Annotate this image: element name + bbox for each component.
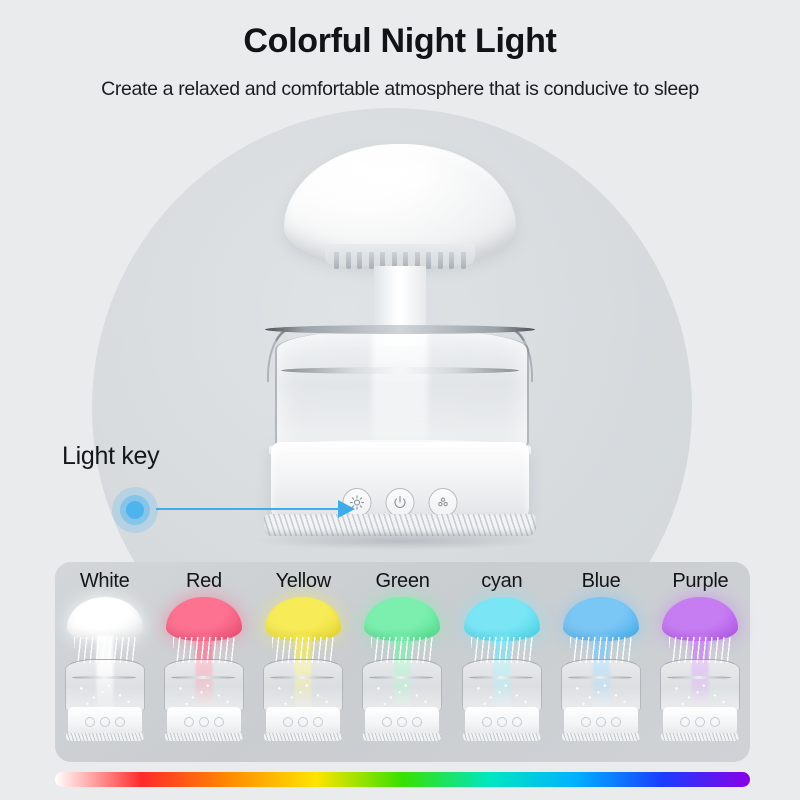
swatch-product-thumbnail <box>456 595 548 747</box>
nozzle <box>334 252 339 269</box>
swatch-bubbles <box>371 680 433 708</box>
swatch-water-line <box>667 676 731 679</box>
swatch-tank <box>660 659 740 712</box>
product-marketing-image: Colorful Night Light Create a relaxed an… <box>0 0 800 800</box>
swatch-tank <box>263 659 343 712</box>
swatch-control-button <box>611 717 621 727</box>
nozzle <box>357 252 362 269</box>
swatch-bubbles <box>570 680 632 708</box>
nozzle <box>461 252 466 269</box>
color-spectrum-bar <box>55 772 750 787</box>
swatch-vent <box>264 733 342 741</box>
swatch-control-button <box>695 717 705 727</box>
power-button[interactable] <box>386 488 415 517</box>
swatch-product-thumbnail <box>158 595 250 747</box>
swatch-bubbles <box>173 680 235 708</box>
swatch-control-buttons <box>482 717 522 727</box>
swatch-control-button <box>214 717 224 727</box>
swatch-label: Blue <box>582 570 621 593</box>
swatch-bubbles <box>471 680 533 708</box>
swatch-control-buttons <box>680 717 720 727</box>
nozzle <box>369 252 374 269</box>
tank-flare-right <box>505 327 533 382</box>
swatch-vent <box>66 733 144 741</box>
swatch-control-buttons <box>382 717 422 727</box>
swatch-control-buttons <box>184 717 224 727</box>
swatch-control-buttons <box>85 717 125 727</box>
swatch-label: cyan <box>481 570 522 593</box>
swatch-vent <box>661 733 739 741</box>
swatch-tank <box>362 659 442 712</box>
swatch-control-button <box>680 717 690 727</box>
swatch-control-button <box>298 717 308 727</box>
swatch-product-thumbnail <box>257 595 349 747</box>
swatch-control-buttons <box>283 717 323 727</box>
tank-glass <box>275 330 529 452</box>
swatch-tank <box>164 659 244 712</box>
water-tank <box>265 325 535 455</box>
swatch-vent <box>363 733 441 741</box>
swatch-control-button <box>313 717 323 727</box>
color-swatch-panel: WhiteRedYellowGreencyanBluePurple <box>55 562 750 762</box>
tank-rim <box>265 325 535 334</box>
color-swatch[interactable]: White <box>55 562 154 762</box>
color-swatch[interactable]: Purple <box>651 562 750 762</box>
swatch-product-thumbnail <box>59 595 151 747</box>
water-line <box>281 367 519 374</box>
swatch-product-thumbnail <box>654 595 746 747</box>
swatch-bubbles <box>669 680 731 708</box>
marker-core <box>126 501 144 519</box>
swatch-product-thumbnail <box>356 595 448 747</box>
swatch-water-line <box>469 676 533 679</box>
light-key-label: Light key <box>62 442 159 471</box>
swatch-label: White <box>80 570 130 593</box>
color-swatch[interactable]: cyan <box>452 562 551 762</box>
swatch-water-line <box>369 676 433 679</box>
callout-line <box>156 508 341 510</box>
mist-icon <box>436 495 451 510</box>
swatch-row: WhiteRedYellowGreencyanBluePurple <box>55 562 750 762</box>
cap-highlight <box>344 159 446 200</box>
nozzle <box>449 252 454 269</box>
swatch-water-line <box>270 676 334 679</box>
swatch-water-line <box>171 676 235 679</box>
swatch-water-line <box>72 676 136 679</box>
swatch-control-button <box>482 717 492 727</box>
swatch-control-button <box>710 717 720 727</box>
swatch-label: Green <box>375 570 429 593</box>
swatch-vent <box>165 733 243 741</box>
color-swatch[interactable]: Green <box>353 562 452 762</box>
color-swatch[interactable]: Yellow <box>254 562 353 762</box>
marker-ring <box>120 495 150 525</box>
power-icon <box>393 495 408 510</box>
swatch-control-button <box>115 717 125 727</box>
swatch-label: Yellow <box>276 570 331 593</box>
swatch-control-buttons <box>581 717 621 727</box>
swatch-control-button <box>100 717 110 727</box>
swatch-tank <box>462 659 542 712</box>
color-swatch[interactable]: Red <box>154 562 253 762</box>
product-illustration <box>250 140 550 560</box>
page-title: Colorful Night Light <box>0 22 800 61</box>
swatch-control-button <box>199 717 209 727</box>
page-subtitle: Create a relaxed and comfortable atmosph… <box>0 78 800 101</box>
nozzle <box>438 252 443 269</box>
light-key-marker <box>112 487 158 533</box>
nozzle <box>426 252 431 269</box>
swatch-control-button <box>397 717 407 727</box>
swatch-control-button <box>512 717 522 727</box>
nozzle <box>346 252 351 269</box>
swatch-control-button <box>382 717 392 727</box>
swatch-control-button <box>184 717 194 727</box>
swatch-tank <box>65 659 145 712</box>
swatch-tank <box>561 659 641 712</box>
swatch-control-button <box>581 717 591 727</box>
mist-button[interactable] <box>429 488 458 517</box>
swatch-label: Red <box>186 570 222 593</box>
swatch-bubbles <box>272 680 334 708</box>
swatch-control-button <box>596 717 606 727</box>
swatch-control-button <box>412 717 422 727</box>
swatch-label: Purple <box>672 570 728 593</box>
swatch-water-line <box>568 676 632 679</box>
tank-flare-left <box>267 327 295 382</box>
swatch-bubbles <box>74 680 136 708</box>
product-shadow <box>257 532 543 550</box>
swatch-vent <box>562 733 640 741</box>
control-panel <box>343 488 458 517</box>
swatch-product-thumbnail <box>555 595 647 747</box>
callout-arrow-icon <box>338 500 355 518</box>
swatch-control-button <box>85 717 95 727</box>
swatch-vent <box>463 733 541 741</box>
color-swatch[interactable]: Blue <box>551 562 650 762</box>
swatch-control-button <box>283 717 293 727</box>
swatch-control-button <box>497 717 507 727</box>
